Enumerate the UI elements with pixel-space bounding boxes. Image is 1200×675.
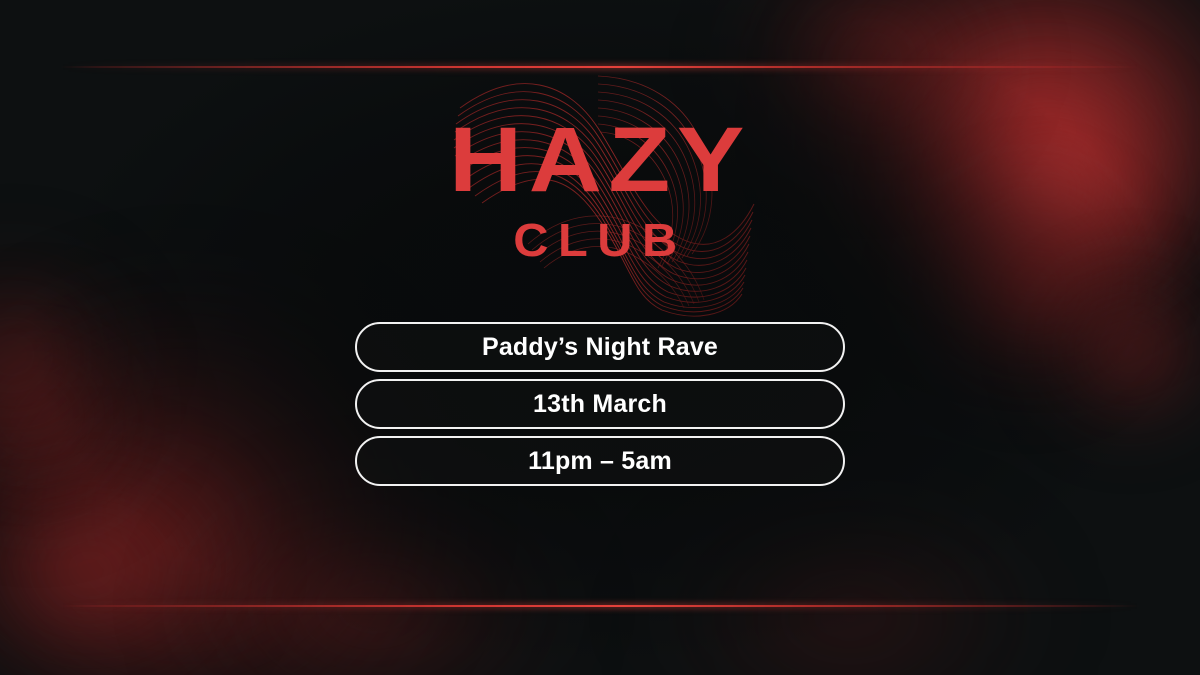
- smoke-cloud-bottom-right: [590, 505, 1110, 675]
- event-poster: HAZY CLUB Paddy’s Night Rave 13th March …: [0, 0, 1200, 675]
- smoke-cloud-right-mid: [1000, 255, 1200, 495]
- top-divider-line: [60, 66, 1140, 68]
- event-time-pill: 11pm – 5am: [355, 436, 845, 486]
- logo-subtitle: CLUB: [0, 217, 1200, 263]
- logo-wordmark: HAZY: [0, 118, 1200, 203]
- smoke-cloud-bottom-center: [140, 475, 660, 675]
- smoke-cloud-left-lower: [0, 265, 200, 565]
- event-date-label: 13th March: [533, 390, 667, 419]
- event-date-pill: 13th March: [355, 379, 845, 429]
- smoke-cloud-bottom-left-inner: [0, 405, 300, 675]
- club-logo: HAZY CLUB: [0, 118, 1200, 263]
- event-time-label: 11pm – 5am: [528, 447, 672, 476]
- bottom-divider-line: [60, 605, 1140, 607]
- event-details-list: Paddy’s Night Rave 13th March 11pm – 5am: [355, 322, 845, 486]
- event-title-label: Paddy’s Night Rave: [482, 333, 718, 362]
- event-title-pill: Paddy’s Night Rave: [355, 322, 845, 372]
